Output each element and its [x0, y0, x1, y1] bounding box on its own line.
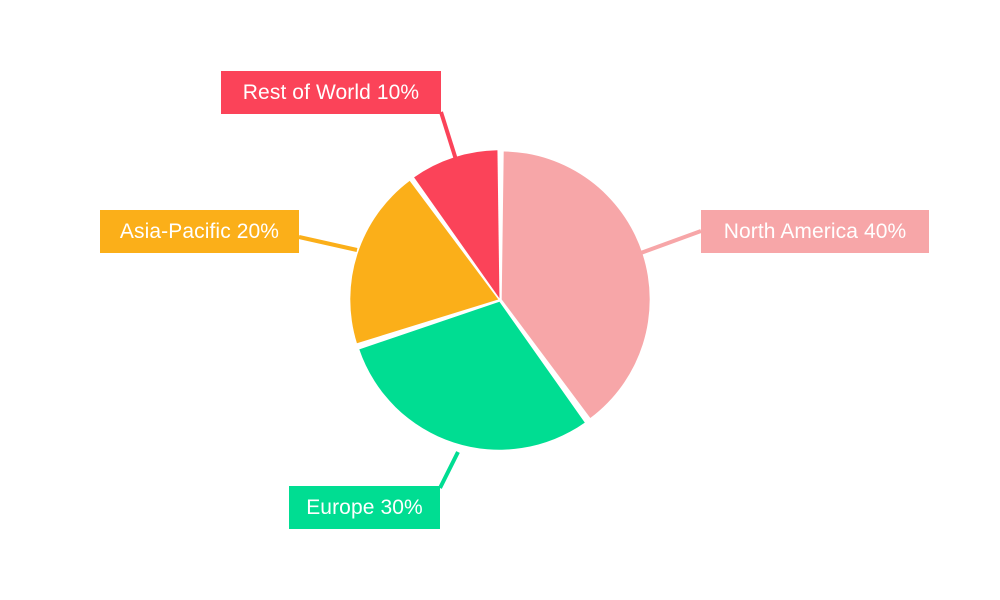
leader-line-asia-pacific	[299, 237, 357, 250]
pie-label-rest-of-world: Rest of World 10%	[221, 71, 441, 114]
pie-label-europe-text: Europe 30%	[306, 497, 423, 518]
pie-label-north-america: North America 40%	[701, 210, 929, 253]
pie-chart-canvas	[0, 0, 1000, 600]
pie-label-europe: Europe 30%	[289, 486, 440, 529]
pie-label-rest-of-world-text: Rest of World 10%	[243, 82, 419, 103]
pie-chart-figure: North America 40% Europe 30% Asia-Pacifi…	[0, 0, 1000, 600]
pie-label-asia-pacific: Asia-Pacific 20%	[100, 210, 299, 253]
leader-line-north-america	[638, 231, 701, 254]
pie-wedges	[350, 150, 649, 449]
leader-line-europe	[440, 452, 458, 488]
pie-label-asia-pacific-text: Asia-Pacific 20%	[120, 221, 279, 242]
pie-label-north-america-text: North America 40%	[724, 221, 907, 242]
